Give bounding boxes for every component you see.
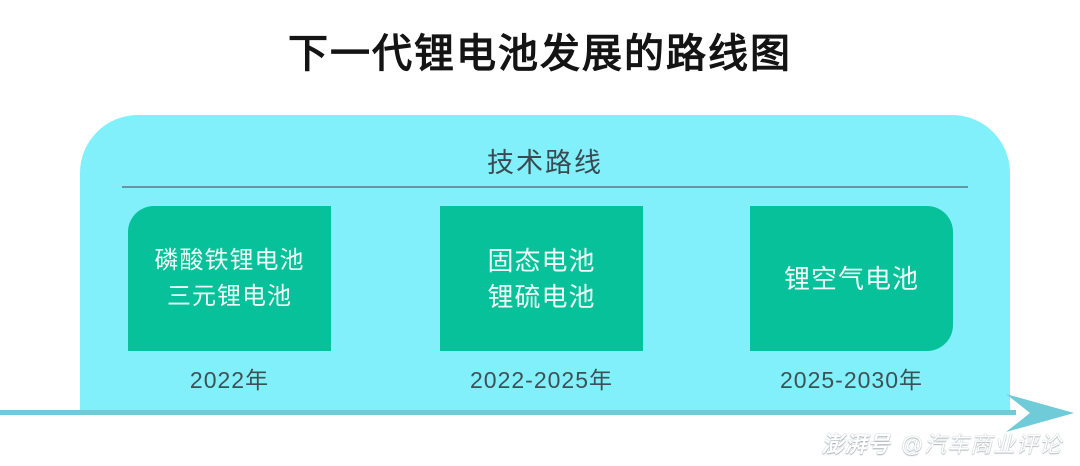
tech-card-3[interactable]: 锂空气电池 [750,206,953,351]
watermark-brand: 澎湃号 [822,427,891,459]
tech-card-2-line-2: 锂硫电池 [487,279,595,315]
year-labels-row: 2022年 2022-2025年 2025-2030年 [122,363,968,399]
year-label-2: 2022-2025年 [440,363,643,397]
roadmap-panel: 技术路线 磷酸铁锂电池 三元锂电池 固态电池 锂硫电池 锂空气电池 2022年 … [80,115,1010,412]
infographic-root: 下一代锂电池发展的路线图 技术路线 磷酸铁锂电池 三元锂电池 固态电池 锂硫电池… [0,0,1080,466]
tech-card-3-line-1: 锂空气电池 [784,261,919,297]
watermark: 澎湃号 @汽车商业评论 [822,428,1062,458]
tech-cards-row: 磷酸铁锂电池 三元锂电池 固态电池 锂硫电池 锂空气电池 [122,206,968,351]
tech-card-2[interactable]: 固态电池 锂硫电池 [440,206,643,351]
year-label-3: 2025-2030年 [750,363,953,397]
tech-card-1-line-2: 三元锂电池 [167,279,292,315]
tech-card-2-line-1: 固态电池 [487,243,595,279]
tech-card-1[interactable]: 磷酸铁锂电池 三元锂电池 [128,206,331,351]
page-title: 下一代锂电池发展的路线图 [0,28,1080,80]
tech-card-1-line-1: 磷酸铁锂电池 [155,243,305,279]
year-label-1: 2022年 [128,363,331,397]
panel-heading: 技术路线 [80,145,1010,181]
watermark-account: @汽车商业评论 [901,427,1062,459]
panel-divider [122,186,968,188]
